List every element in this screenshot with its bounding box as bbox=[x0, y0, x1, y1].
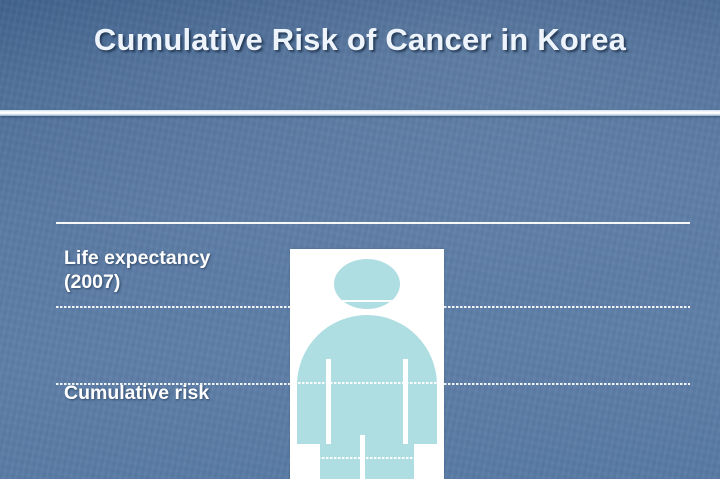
slide-canvas: Cumulative Risk of Cancer in Korea Life … bbox=[0, 0, 720, 479]
male-panel-divider-solid bbox=[290, 300, 444, 302]
title-divider bbox=[0, 110, 720, 116]
male-left-arm-gap bbox=[326, 359, 331, 444]
male-right-arm-gap bbox=[403, 359, 408, 444]
page-title: Cumulative Risk of Cancer in Korea bbox=[0, 22, 720, 58]
row-divider-solid bbox=[56, 222, 690, 224]
male-figure-icon bbox=[290, 249, 444, 479]
male-panel-divider-dashed-1 bbox=[290, 382, 444, 384]
male-column-panel bbox=[290, 249, 444, 479]
male-panel-divider-dashed-2 bbox=[290, 457, 444, 459]
